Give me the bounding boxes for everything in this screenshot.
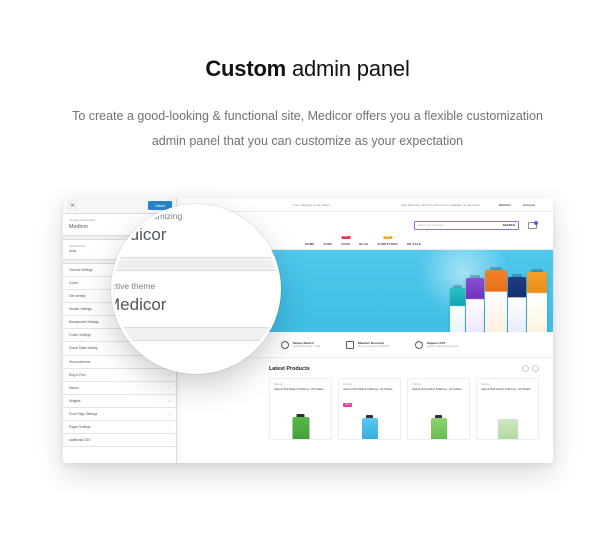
nav-item-home[interactable]: HOME (305, 242, 314, 246)
nav-label-page: PAGE (341, 242, 350, 246)
sidebar-item-label: Woocommerce (69, 360, 90, 364)
topbar-account-link[interactable]: Account (523, 203, 535, 207)
page-subtitle-line1: To create a good-looking & functional si… (72, 109, 543, 123)
nav-label-shop: SHOP (323, 242, 332, 246)
bottle-4 (508, 277, 526, 332)
product-box (498, 419, 518, 440)
page-title: Custom admin panel (0, 56, 615, 82)
truck-icon (281, 341, 289, 349)
product-image (292, 417, 309, 440)
magnified-divider (111, 328, 281, 341)
magnified-active-theme-value: Medicor (111, 295, 281, 315)
discount-icon (346, 341, 354, 349)
sidebar-item-label: Front Page Settings (69, 412, 97, 416)
page-title-rest: admin panel (286, 56, 410, 81)
sidebar-item-label: Pages Settings (69, 425, 90, 429)
nav-item-shortcode[interactable]: NEW SHORTCODE (377, 242, 397, 246)
sidebar-item-widgets[interactable]: Widgets › (63, 395, 176, 408)
product-name: Vitamin B12 Methyl 1000mcg - 60 Tablets (481, 388, 534, 392)
chevron-right-icon: › (169, 412, 170, 416)
screenshot-composite: Free shipping on all orders Fast discove… (63, 198, 553, 463)
sidebar-item-label: Blog & Post (69, 373, 86, 377)
product-category: Vitamins (274, 383, 327, 386)
bottle-5 (527, 272, 547, 332)
search-button[interactable]: SEARCH (503, 223, 515, 227)
topbar-wishlist-link[interactable]: Wishlist (499, 203, 511, 207)
product-category: Vitamins (412, 383, 465, 386)
sidebar-item-label: General Settings (69, 268, 93, 272)
sidebar-item-label: Header Settings (69, 307, 92, 311)
magnifier-lens: You are customizing Medicor Active theme… (111, 204, 281, 374)
product-name: Vitamin B12 Methyl 1000mcg - 60 Tablets (343, 388, 396, 392)
feature-support: Support 24/7 Support online 24 hours a d… (415, 341, 459, 349)
chevron-left-icon[interactable] (522, 365, 529, 372)
chevron-right-icon: › (169, 438, 170, 442)
sale-badge: SALE (343, 403, 352, 406)
sidebar-item-label: Social Share setting (69, 346, 97, 350)
bottle-1 (450, 288, 465, 332)
product-bottle (362, 418, 378, 440)
sidebar-item-menus[interactable]: Menus › (63, 382, 176, 395)
nav-item-blog[interactable]: BLOG (359, 242, 368, 246)
chevron-right-icon[interactable] (532, 365, 539, 372)
magnifier-content: You are customizing Medicor Active theme… (111, 204, 281, 374)
bottle-3 (485, 270, 507, 332)
intro-section: Custom admin panel To create a good-look… (0, 0, 615, 154)
topbar-links: Wishlist Account (499, 203, 545, 207)
product-card[interactable]: Vitamins Vitamin B12 Methyl 1000mcg - 60… (476, 378, 539, 440)
magnified-customizing-label: You are customizing (111, 211, 281, 221)
chevron-right-icon: › (169, 399, 170, 403)
page-title-strong: Custom (205, 56, 286, 81)
topbar-note: Fast discovery and free returns are avai… (391, 203, 499, 207)
page-subtitle: To create a good-looking & functional si… (34, 104, 582, 154)
hero-product-image (450, 270, 547, 332)
feature-money-return: Money Return Guaranteed under 7 days (281, 341, 320, 349)
magnified-active-theme-label: Active theme (111, 281, 281, 291)
product-category: Vitamins (343, 383, 396, 386)
sidebar-item-additional-css[interactable]: Additional CSS › (63, 434, 176, 447)
product-card[interactable]: Vitamins Vitamin B12 Methyl 1000mcg - 60… (269, 378, 332, 440)
nav-label-blog: BLOG (359, 242, 368, 246)
sidebar-item-label: Site Identity (69, 294, 86, 298)
carousel-controls (522, 365, 539, 372)
sidebar-item-pages-settings[interactable]: Pages Settings › (63, 421, 176, 434)
nav-badge-page: HOT (341, 236, 350, 239)
product-image (498, 419, 518, 440)
sidebar-item-label: Additional CSS (69, 438, 90, 442)
product-name: Vitamin B12 Methyl 1000mcg - 60 Tablets (274, 388, 327, 392)
product-image (362, 418, 378, 440)
sidebar-item-front-page-settings[interactable]: Front Page Settings › (63, 408, 176, 421)
feature-sub-3: Support online 24 hours a day (427, 345, 459, 348)
magnified-active-theme-block: Active theme Medicor (111, 271, 281, 328)
support-icon (415, 341, 423, 349)
magnified-settings-item: Settings (111, 341, 281, 374)
product-card[interactable]: Vitamins Vitamin B12 Methyl 1000mcg - 60… (407, 378, 470, 440)
page-subtitle-line2: admin panel that you can customize as yo… (152, 134, 463, 148)
product-bottle (292, 417, 309, 440)
product-card[interactable]: Vitamins Vitamin B12 Methyl 1000mcg - 60… (338, 378, 401, 440)
product-bottle (431, 418, 447, 440)
latest-products-header: Latest Products (269, 365, 539, 372)
product-image (431, 418, 447, 440)
search-placeholder: Enter your keyword... (418, 223, 445, 227)
chevron-right-icon: › (169, 425, 170, 429)
magnified-divider (111, 258, 281, 271)
sidebar-item-label: Breadcrumb Settings (69, 320, 99, 324)
feature-sub-2: On every order over $150.00 (358, 345, 389, 348)
nav-item-shop[interactable]: SHOP (323, 242, 332, 246)
chevron-right-icon: › (169, 373, 170, 377)
product-category: Vitamins (481, 383, 534, 386)
magnified-customizing-block: You are customizing Medicor (111, 204, 281, 258)
sidebar-item-label: Menus (69, 386, 79, 390)
nav-label-onsale: ON SALE (407, 242, 421, 246)
cart-icon[interactable] (528, 222, 537, 229)
nav-item-onsale[interactable]: ON SALE (407, 242, 421, 246)
bottle-2 (466, 278, 484, 332)
nav-item-page[interactable]: HOT PAGE (341, 242, 350, 246)
nav-label-home: HOME (305, 242, 314, 246)
nav-label-shortcode: SHORTCODE (377, 242, 397, 246)
chevron-right-icon: › (169, 386, 170, 390)
close-icon[interactable]: ✕ (67, 200, 78, 211)
product-list: Vitamins Vitamin B12 Methyl 1000mcg - 60… (269, 378, 539, 440)
sidebar-item-label: Footer Settings (69, 333, 91, 337)
sidebar-item-label: Colors (69, 281, 78, 285)
search-input[interactable]: Enter your keyword... SEARCH (414, 221, 519, 230)
magnified-customizing-value: Medicor (111, 225, 281, 245)
nav-badge-shortcode: NEW (383, 236, 392, 239)
product-name: Vitamin B12 Methyl 1000mcg - 60 Tablets (412, 388, 465, 392)
feature-member-discount: Member Discount On every order over $150… (346, 341, 389, 349)
sidebar-item-label: Widgets (69, 399, 81, 403)
feature-sub-1: Guaranteed under 7 days (293, 345, 320, 348)
topbar-phone: Free shipping on all orders (283, 203, 391, 207)
